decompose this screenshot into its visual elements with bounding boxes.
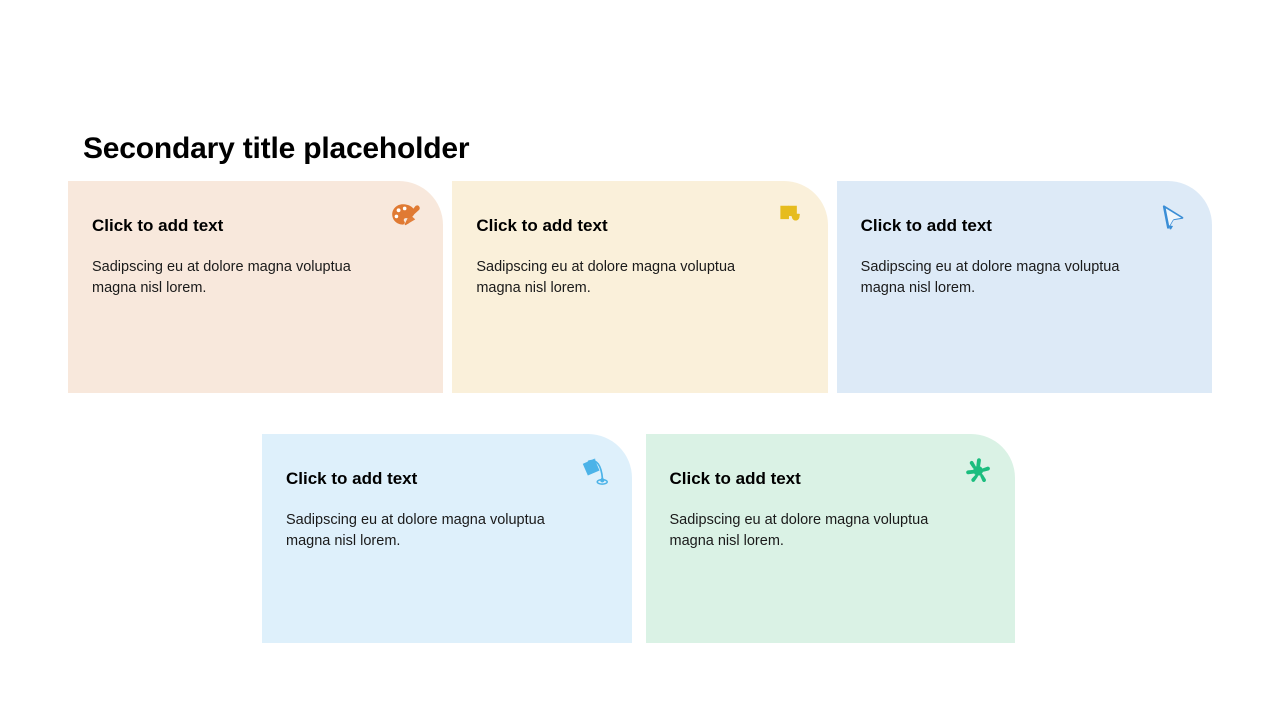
content-card[interactable]: Click to add text Sadipscing eu at dolor… [68,181,443,393]
card-heading[interactable]: Click to add text [670,468,992,489]
slide-canvas: Secondary title placeholder Click to add… [0,0,1280,720]
paint-bucket-icon [578,454,612,488]
card-body-text[interactable]: Sadipscing eu at dolore magna voluptua m… [92,257,377,299]
palette-brush-icon [389,201,423,235]
page-title: Secondary title placeholder [83,131,469,167]
card-heading[interactable]: Click to add text [92,215,419,236]
card-heading[interactable]: Click to add text [476,215,803,236]
card-body-text[interactable]: Sadipscing eu at dolore magna voluptua m… [286,510,571,552]
splat-asterisk-icon [961,454,995,488]
card-heading[interactable]: Click to add text [286,468,608,489]
card-row-bottom: Click to add text Sadipscing eu at dolor… [262,434,1015,643]
card-body-text[interactable]: Sadipscing eu at dolore magna voluptua m… [670,510,955,552]
cursor-pointer-icon [1158,201,1192,235]
content-card[interactable]: Click to add text Sadipscing eu at dolor… [262,434,632,643]
content-card[interactable]: Click to add text Sadipscing eu at dolor… [837,181,1212,393]
card-row-top: Click to add text Sadipscing eu at dolor… [68,181,1212,393]
puzzle-piece-icon [774,201,808,235]
card-heading[interactable]: Click to add text [861,215,1188,236]
content-card[interactable]: Click to add text Sadipscing eu at dolor… [452,181,827,393]
card-body-text[interactable]: Sadipscing eu at dolore magna voluptua m… [476,257,761,299]
card-body-text[interactable]: Sadipscing eu at dolore magna voluptua m… [861,257,1146,299]
content-card[interactable]: Click to add text Sadipscing eu at dolor… [646,434,1016,643]
